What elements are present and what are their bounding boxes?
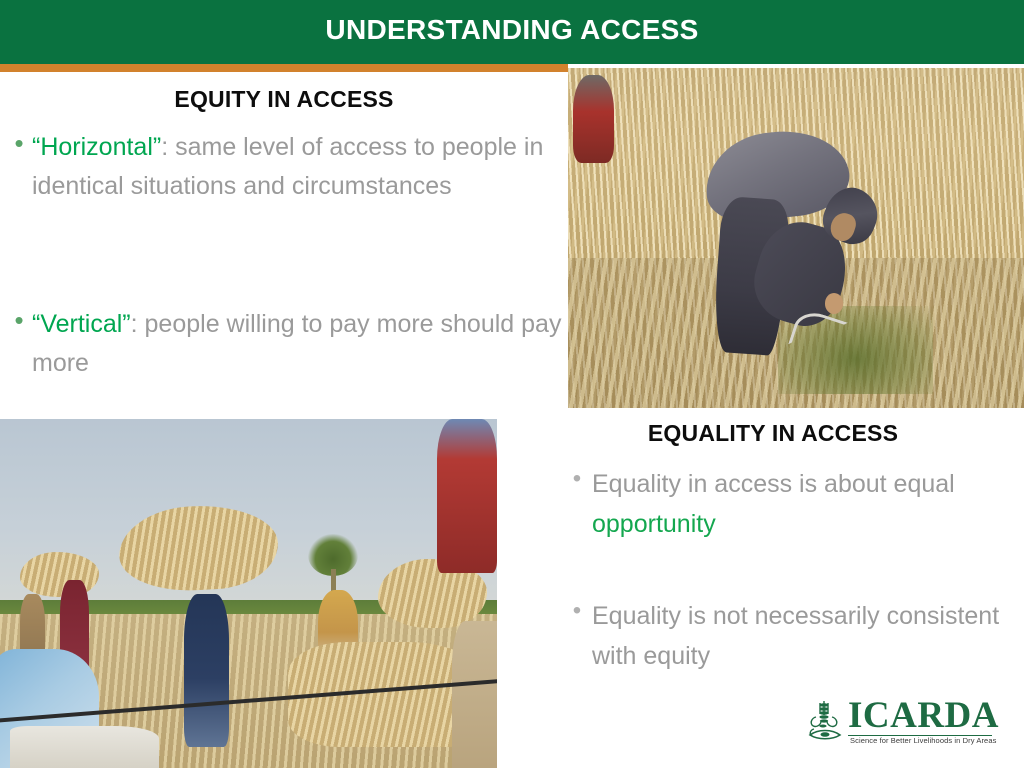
- worker-figure: [437, 419, 497, 573]
- icarda-emblem-icon: [806, 699, 846, 743]
- farmer-figure: [705, 122, 906, 374]
- title-band: UNDERSTANDING ACCESS: [0, 0, 1024, 64]
- icarda-logo: ICARDA Science for Better Livelihoods in…: [806, 697, 992, 749]
- equality-bullet-1: • Equality in access is about equal oppo…: [562, 464, 1010, 544]
- equality-section: EQUALITY IN ACCESS • Equality in access …: [540, 414, 1024, 684]
- equality-bullet-1-highlight: opportunity: [592, 510, 716, 538]
- white-tarp: [10, 726, 159, 768]
- bullet-marker-icon: •: [6, 128, 32, 158]
- equality-bullet-1-text: Equality in access is about equal opport…: [592, 464, 1010, 544]
- icarda-tagline: Science for Better Livelihoods in Dry Ar…: [850, 736, 1000, 745]
- foreground-figure: [452, 621, 497, 768]
- slide-canvas: UNDERSTANDING ACCESS: [0, 0, 1024, 768]
- equity-bullet-2-highlight: “Vertical”: [32, 310, 131, 338]
- farmer-hand: [825, 293, 843, 313]
- equity-bullet-2-text: “Vertical”: people willing to pay more s…: [32, 305, 562, 383]
- equity-section: EQUITY IN ACCESS • “Horizontal”: same le…: [0, 80, 568, 415]
- image-wheat-harvest: [568, 68, 1024, 408]
- slide-title: UNDERSTANDING ACCESS: [0, 0, 1024, 64]
- icarda-wordmark: ICARDA: [848, 697, 999, 735]
- equity-bullet-1: • “Horizontal”: same level of access to …: [6, 128, 562, 206]
- equity-heading: EQUITY IN ACCESS: [0, 86, 568, 113]
- equity-bullet-2: • “Vertical”: people willing to pay more…: [6, 305, 562, 383]
- equality-bullet-1-lead: Equality in access is about equal: [592, 470, 955, 498]
- title-accent-rule: [0, 64, 568, 72]
- background-person: [573, 75, 614, 163]
- equity-bullet-1-text: “Horizontal”: same level of access to pe…: [32, 128, 562, 206]
- equality-bullet-2: • Equality is not necessarily consistent…: [562, 596, 1010, 676]
- bullet-marker-icon: •: [6, 305, 32, 335]
- equality-heading: EQUALITY IN ACCESS: [540, 420, 1006, 447]
- equity-bullet-1-highlight: “Horizontal”: [32, 133, 161, 161]
- bullet-marker-icon: •: [562, 464, 592, 494]
- image-carrying-sheaves: [0, 419, 497, 768]
- equality-bullet-2-text: Equality is not necessarily consistent w…: [592, 596, 1010, 676]
- bullet-marker-icon: •: [562, 596, 592, 626]
- wheat-sheaf: [20, 552, 100, 597]
- worker-carrying-sheaf: [184, 594, 229, 748]
